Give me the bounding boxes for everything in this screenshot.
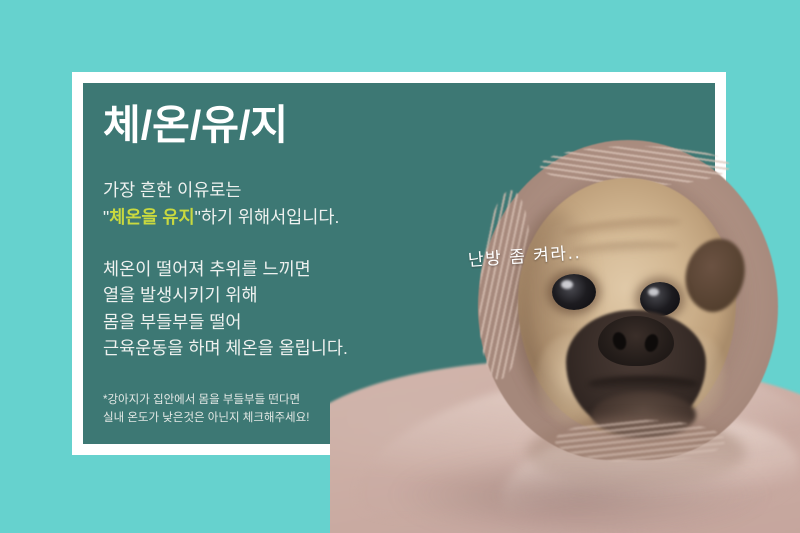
body-line: 근육운동을 하며 체온을 올립니다. [103,335,503,361]
lead-line-2: "체온을 유지"하기 위해서입니다. [103,204,503,231]
poster-text-block: 체/온/유/지 가장 흔한 이유로는 "체온을 유지"하기 위해서입니다. 체온… [103,104,503,428]
lead-paragraph: 가장 흔한 이유로는 "체온을 유지"하기 위해서입니다. [103,177,503,230]
body-line: 몸을 부들부들 떨어 [103,309,503,335]
page-title: 체/온/유/지 [103,104,503,147]
body-line: 열을 발생시키기 위해 [103,282,503,308]
footnote-line: *강아지가 집안에서 몸을 부들부들 떤다면 [103,391,503,409]
highlight-phrase: 체온을 유지 [109,207,194,227]
body-line: 체온이 떨어져 추위를 느끼면 [103,256,503,282]
footnote: *강아지가 집안에서 몸을 부들부들 떤다면 실내 온도가 낮은것은 아닌지 체… [103,391,503,427]
body-paragraph: 체온이 떨어져 추위를 느끼면 열을 발생시키기 위해 몸을 부들부들 떨어 근… [103,256,503,361]
footnote-line: 실내 온도가 낮은것은 아닌지 체크해주세요! [103,409,503,427]
lead-line-1: 가장 흔한 이유로는 [103,180,242,200]
lead-line-2-tail: 하기 위해서입니다. [201,207,340,227]
poster-canvas: 난방 좀 켜라.. 체/온/유/지 가장 흔한 이유로는 "체온을 유지"하기 … [0,0,800,533]
